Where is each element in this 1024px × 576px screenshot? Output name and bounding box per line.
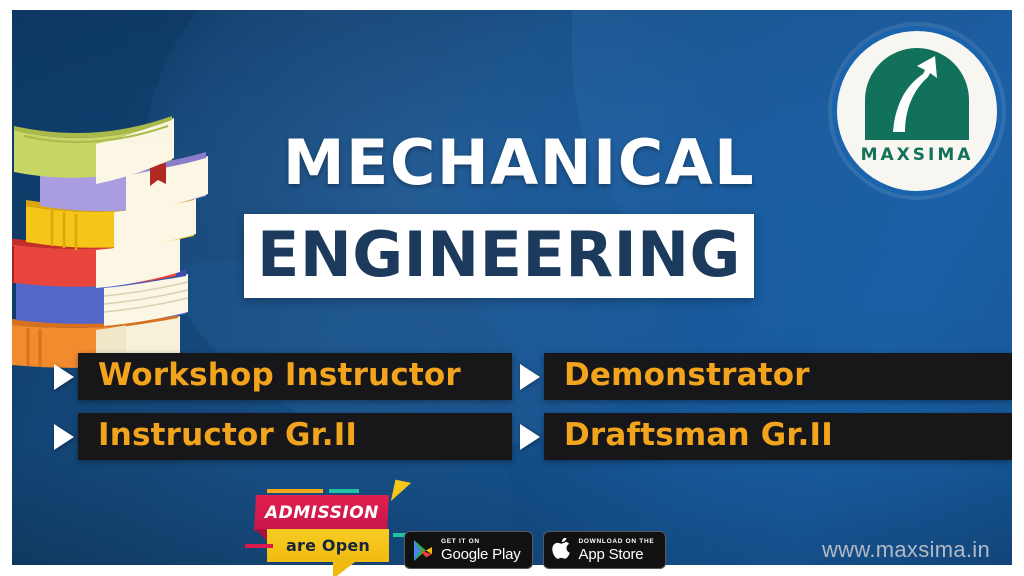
headline-line-2-text: ENGINEERING — [257, 224, 741, 286]
badge-stripe-orange — [267, 489, 323, 493]
course-bar[interactable]: Demonstrator — [544, 353, 1012, 400]
course-row-2: Instructor Gr.II Draftsman Gr.II — [12, 413, 1012, 460]
course-row-1: Workshop Instructor Demonstrator — [12, 353, 1012, 400]
admission-text: ADMISSION — [265, 503, 379, 523]
website-url[interactable]: www.maxsima.in — [822, 537, 990, 563]
app-store-small-text: Download on the — [579, 538, 655, 546]
ribbon-tail — [333, 562, 355, 576]
logo-wordmark: MAXSIMA — [861, 145, 974, 165]
triangle-right-icon — [520, 364, 540, 390]
headline-line-1-text: MECHANICAL — [269, 132, 755, 194]
google-play-badge[interactable]: GET IT ON Google Play — [404, 531, 533, 569]
course-bar[interactable]: Draftsman Gr.II — [544, 413, 1012, 460]
badge-stripe-teal — [329, 489, 359, 493]
course-bar[interactable]: Workshop Instructor — [78, 353, 512, 400]
app-store-large-text: App Store — [579, 546, 655, 563]
course-label: Instructor Gr.II — [98, 420, 357, 451]
course-item-instructor-gr2[interactable]: Instructor Gr.II — [12, 413, 512, 460]
admission-badge: ADMISSION are Open — [243, 487, 423, 576]
course-label: Draftsman Gr.II — [564, 420, 833, 451]
upward-arrow-icon — [865, 48, 969, 140]
logo-arch-shape — [865, 48, 969, 140]
poster: MECHANICAL ENGINEERING Workshop Instruct… — [0, 0, 1024, 576]
google-play-icon — [413, 539, 434, 562]
apple-logo-icon — [552, 538, 572, 562]
google-play-large-text: Google Play — [441, 546, 521, 563]
course-bar[interactable]: Instructor Gr.II — [78, 413, 512, 460]
google-play-small-text: GET IT ON — [441, 538, 521, 546]
are-open-text: are Open — [286, 536, 370, 555]
badge-flash-icon — [391, 480, 411, 505]
admission-banner: ADMISSION — [254, 495, 389, 531]
maxsima-logo[interactable]: MAXSIMA — [832, 26, 1002, 196]
course-list: Workshop Instructor Demonstrator Instruc… — [12, 353, 1012, 473]
course-item-demonstrator[interactable]: Demonstrator — [512, 353, 1012, 400]
course-item-workshop-instructor[interactable]: Workshop Instructor — [12, 353, 512, 400]
app-store-text: Download on the App Store — [579, 538, 655, 563]
google-play-text: GET IT ON Google Play — [441, 538, 521, 563]
triangle-right-icon — [520, 424, 540, 450]
course-label: Demonstrator — [564, 360, 810, 391]
triangle-right-icon — [54, 364, 74, 390]
app-store-badge[interactable]: Download on the App Store — [543, 531, 667, 569]
store-badges: GET IT ON Google Play Download on the Ap… — [404, 531, 666, 569]
headline-line-2: ENGINEERING — [244, 214, 754, 298]
are-open-ribbon: are Open — [267, 529, 389, 562]
triangle-right-icon — [54, 424, 74, 450]
course-item-draftsman-gr2[interactable]: Draftsman Gr.II — [512, 413, 1012, 460]
course-label: Workshop Instructor — [98, 360, 461, 391]
badge-stripe-crimson — [245, 544, 273, 548]
